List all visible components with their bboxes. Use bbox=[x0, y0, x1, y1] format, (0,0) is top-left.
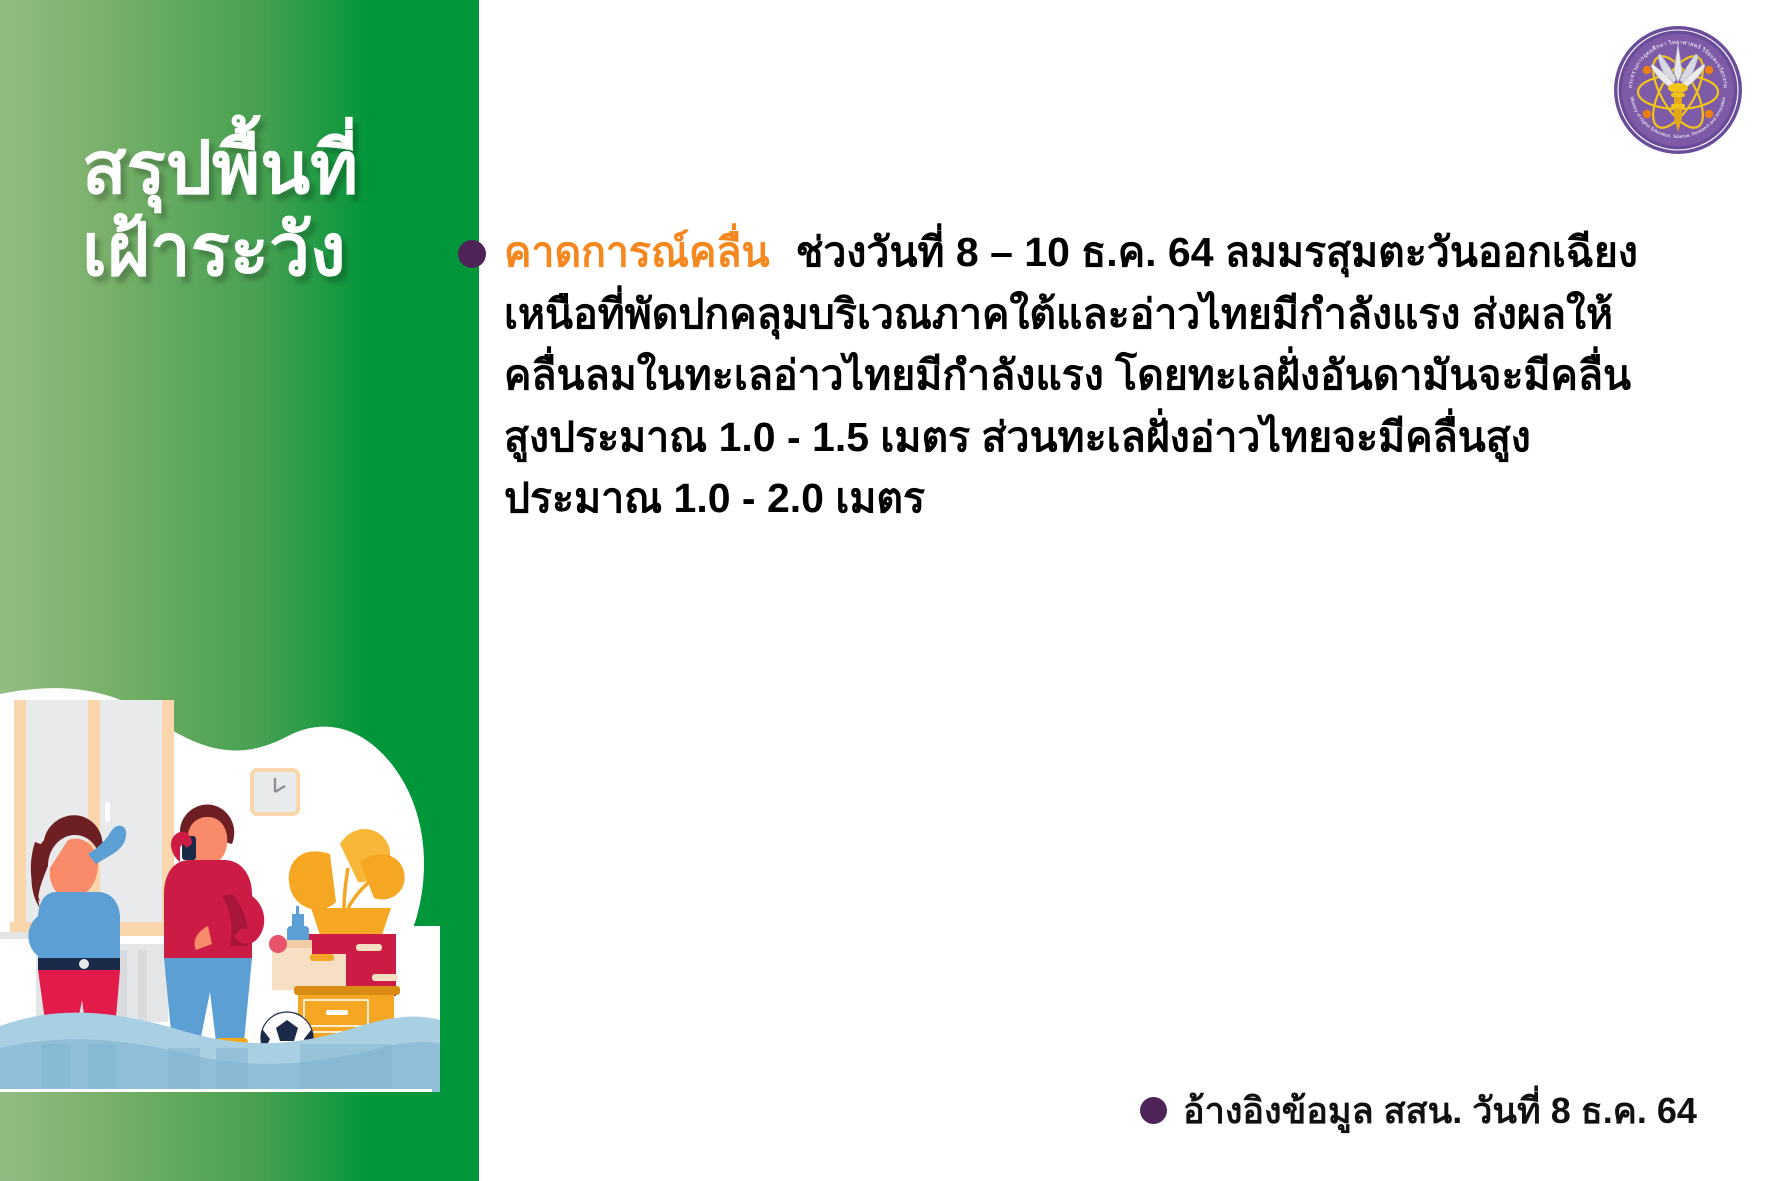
source-reference-text: อ้างอิงข้อมูล สสน. วันที่ 8 ธ.ค. 64 bbox=[1183, 1082, 1697, 1139]
slide-canvas: สรุปพื้นที่ เฝ้าระวัง bbox=[0, 0, 1772, 1181]
forecast-bullet-block: คาดการณ์คลื่นช่วงวันที่ 8 – 10 ธ.ค. 64 ล… bbox=[504, 222, 1664, 530]
bullet-dot-icon bbox=[458, 240, 486, 268]
footer-bullet-dot-icon bbox=[1140, 1097, 1167, 1124]
flooded-room-illustration bbox=[0, 596, 440, 1092]
ministry-seal-logo: กระทรวงการอุดมศึกษา วิทยาศาสตร์ วิจัยและ… bbox=[1608, 20, 1748, 160]
forecast-label: คาดการณ์คลื่น bbox=[504, 229, 770, 275]
page-title: สรุปพื้นที่ เฝ้าระวัง bbox=[82, 128, 479, 292]
source-footer: อ้างอิงข้อมูล สสน. วันที่ 8 ธ.ค. 64 bbox=[1140, 1082, 1697, 1139]
panel-divider-rule bbox=[0, 1089, 432, 1092]
forecast-paragraph: คาดการณ์คลื่นช่วงวันที่ 8 – 10 ธ.ค. 64 ล… bbox=[504, 222, 1664, 530]
main-content: คาดการณ์คลื่นช่วงวันที่ 8 – 10 ธ.ค. 64 ล… bbox=[504, 222, 1664, 530]
wall-clock-icon bbox=[252, 770, 298, 814]
left-green-panel: สรุปพื้นที่ เฝ้าระวัง bbox=[0, 0, 479, 1181]
